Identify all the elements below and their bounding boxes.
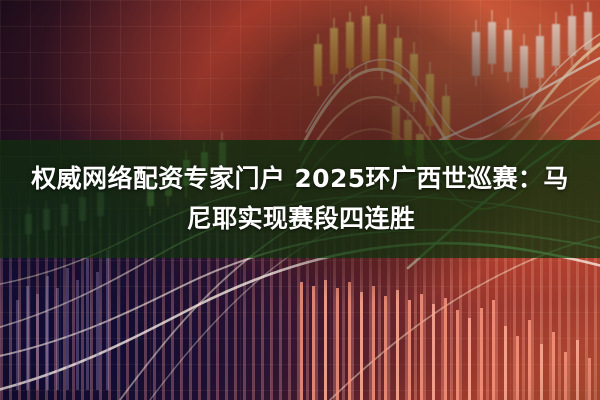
green-title-band-tint xyxy=(0,140,600,258)
news-banner-image: 权威网络配资专家门户 2025环广西世巡赛：马 尼耶实现赛段四连胜 xyxy=(0,0,600,400)
